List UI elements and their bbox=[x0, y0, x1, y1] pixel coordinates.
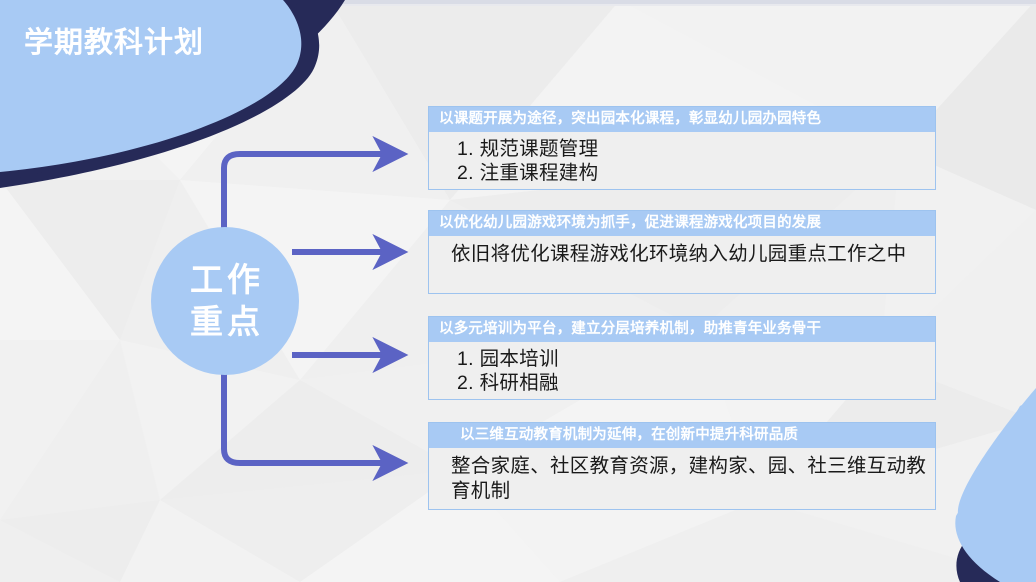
focus-card-4-header: 以三维互动教育机制为延伸，在创新中提升科研品质 bbox=[429, 423, 935, 448]
focus-card-2-header: 以优化幼儿园游戏环境为抓手，促进课程游戏化项目的发展 bbox=[429, 211, 935, 236]
focus-card-3-header: 以多元培训为平台，建立分层培养机制，助推青年业务骨干 bbox=[429, 317, 935, 342]
focus-card-1-body: 1. 规范课题管理 2. 注重课程建构 bbox=[429, 132, 935, 191]
focus-card-1-header: 以课题开展为途径，突出园本化课程，彰显幼儿园办园特色 bbox=[429, 107, 935, 132]
focus-card-3-item-1: 1. 园本培训 bbox=[457, 347, 927, 371]
focus-card-2[interactable]: 以优化幼儿园游戏环境为抓手，促进课程游戏化项目的发展 依旧将优化课程游戏化环境纳… bbox=[428, 210, 936, 294]
focus-card-3-body: 1. 园本培训 2. 科研相融 bbox=[429, 342, 935, 401]
slide-canvas: 学期教科计划 工作 重点 以课题开展为途径，突出园本化课程，彰显幼儿园办园特色 … bbox=[0, 0, 1036, 582]
hub-label-line-2: 重点 bbox=[186, 301, 264, 343]
focus-card-2-body: 依旧将优化课程游戏化环境纳入幼儿园重点工作之中 bbox=[429, 236, 935, 273]
focus-card-3[interactable]: 以多元培训为平台，建立分层培养机制，助推青年业务骨干 1. 园本培训 2. 科研… bbox=[428, 316, 936, 400]
focus-card-4[interactable]: 以三维互动教育机制为延伸，在创新中提升科研品质 整合家庭、社区教育资源，建构家、… bbox=[428, 422, 936, 510]
focus-card-4-item-1: 整合家庭、社区教育资源，建构家、园、社三维互动教育机制 bbox=[451, 454, 927, 504]
page-title: 学期教科计划 bbox=[24, 19, 204, 61]
focus-card-1-item-2: 2. 注重课程建构 bbox=[457, 161, 927, 185]
focus-card-1-item-1: 1. 规范课题管理 bbox=[457, 137, 927, 161]
focus-card-2-item-1: 依旧将优化课程游戏化环境纳入幼儿园重点工作之中 bbox=[451, 242, 927, 267]
hub-circle: 工作 重点 bbox=[151, 227, 299, 375]
arrow-to-card-4 bbox=[224, 370, 382, 463]
focus-card-4-body: 整合家庭、社区教育资源，建构家、园、社三维互动教育机制 bbox=[429, 448, 935, 510]
hub-label-line-1: 工作 bbox=[186, 259, 264, 301]
focus-card-3-item-2: 2. 科研相融 bbox=[457, 371, 927, 395]
focus-card-1[interactable]: 以课题开展为途径，突出园本化课程，彰显幼儿园办园特色 1. 规范课题管理 2. … bbox=[428, 106, 936, 190]
